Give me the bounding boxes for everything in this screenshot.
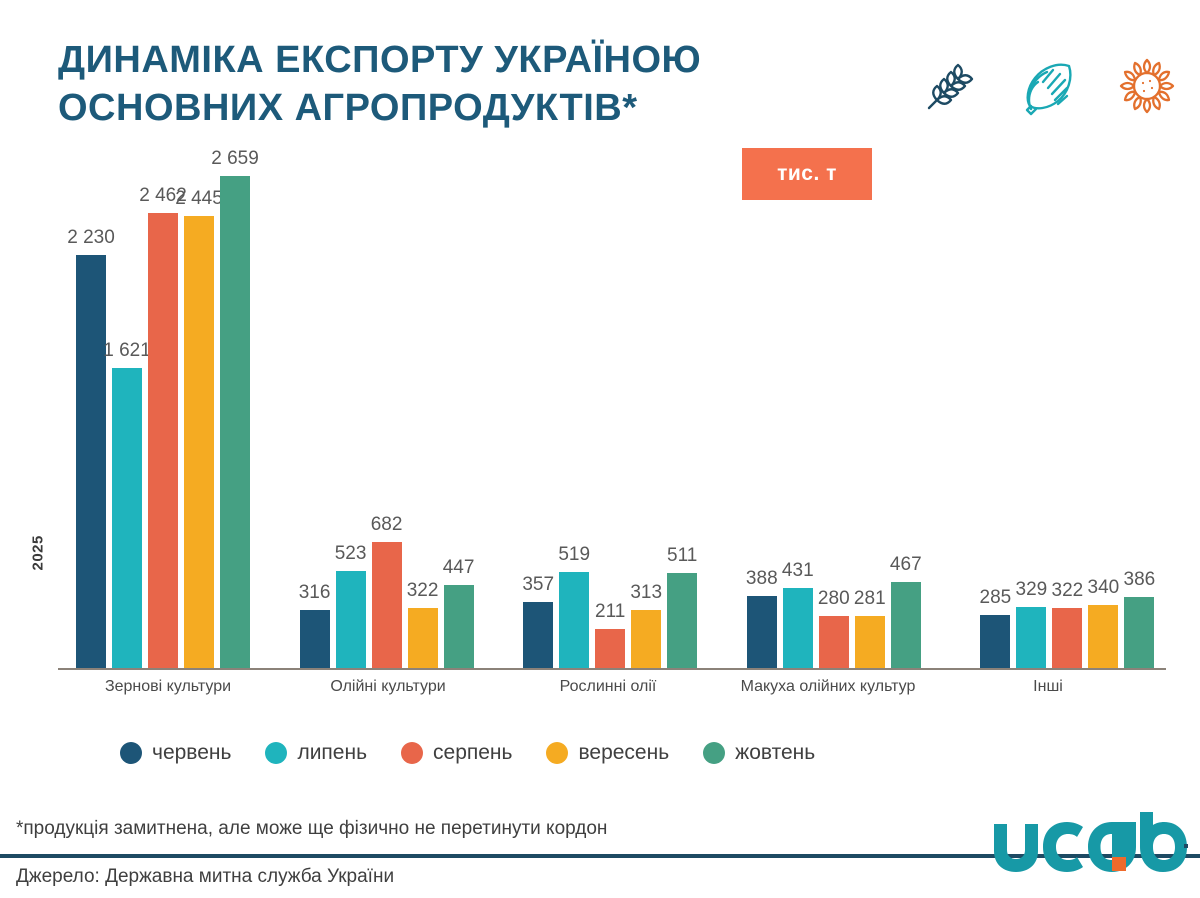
bar-value-label: 523	[335, 543, 367, 565]
legend-item[interactable]: червень	[120, 741, 231, 765]
bar-value-label: 519	[558, 544, 590, 566]
bar-value-label: 316	[299, 582, 331, 604]
bar[interactable]	[220, 176, 250, 668]
y-axis-label: 2025	[30, 543, 47, 571]
bar[interactable]	[523, 602, 553, 668]
bar[interactable]	[184, 216, 214, 668]
legend-label: вересень	[578, 741, 669, 765]
bar-group: 285329322340386	[932, 150, 1166, 668]
footnote: *продукція замитнена, але може ще фізичн…	[16, 818, 607, 840]
bar-column: 211	[595, 150, 625, 668]
x-axis-line	[58, 668, 1166, 670]
bar[interactable]	[300, 610, 330, 668]
bar-value-label: 329	[1016, 579, 1048, 601]
bar-value-label: 211	[595, 601, 625, 623]
bar-column: 280	[819, 150, 849, 668]
bar-column: 2 230	[76, 150, 106, 668]
bar-column: 316	[300, 150, 330, 668]
x-axis-label-item: Зернові культури	[58, 678, 278, 710]
legend-label: червень	[152, 741, 231, 765]
bar-group: 316523682322447	[262, 150, 486, 668]
bar-value-label: 357	[522, 574, 554, 596]
bar-column: 357	[523, 150, 553, 668]
bar-column: 2 445	[184, 150, 214, 668]
legend-label: жовтень	[735, 741, 815, 765]
chart-legend: червеньлипеньсерпеньвересеньжовтень	[0, 730, 1200, 776]
bar[interactable]	[783, 588, 813, 668]
bar-column: 519	[559, 150, 589, 668]
bar[interactable]	[372, 542, 402, 668]
bar[interactable]	[408, 608, 438, 668]
bar[interactable]	[980, 615, 1010, 668]
ucab-logo	[988, 812, 1188, 888]
bar-column: 447	[444, 150, 474, 668]
bar[interactable]	[1052, 608, 1082, 668]
bar-value-label: 1 621	[103, 340, 151, 362]
header-icon-group	[915, 40, 1175, 132]
bar-value-label: 281	[854, 588, 886, 610]
corn-icon	[1013, 50, 1085, 122]
legend-item[interactable]: жовтень	[703, 741, 815, 765]
bar-column: 313	[631, 150, 661, 668]
legend-color-swatch	[120, 742, 142, 764]
bar-value-label: 467	[890, 554, 922, 576]
bar[interactable]	[819, 616, 849, 668]
bar[interactable]	[336, 571, 366, 668]
bar-value-label: 2 659	[211, 148, 259, 170]
legend-color-swatch	[703, 742, 725, 764]
bar-group: 2 2301 6212 4622 4452 659	[58, 150, 262, 668]
legend-color-swatch	[265, 742, 287, 764]
bar-column: 1 621	[112, 150, 142, 668]
bar-group: 388431280281467	[709, 150, 933, 668]
chart-plot-area: 2 2301 6212 4622 4452 659316523682322447…	[58, 150, 1166, 668]
bar-value-label: 682	[371, 514, 403, 536]
bar-chart: 2025 2 2301 6212 4622 4452 6593165236823…	[0, 150, 1200, 720]
legend-item[interactable]: вересень	[546, 741, 669, 765]
bar-column: 523	[336, 150, 366, 668]
bar-column: 340	[1088, 150, 1118, 668]
bar-value-label: 511	[667, 545, 697, 567]
legend-label: липень	[297, 741, 367, 765]
bar[interactable]	[1124, 597, 1154, 668]
sunflower-icon	[1111, 50, 1183, 122]
bar-column: 2 462	[148, 150, 178, 668]
bar-value-label: 322	[1052, 580, 1084, 602]
x-axis-label-item: Олійні культури	[278, 678, 498, 710]
x-axis-labels: Зернові культуриОлійні культуриРослинні …	[58, 678, 1166, 710]
bar[interactable]	[112, 368, 142, 668]
bar-group: 357519211313511	[485, 150, 709, 668]
bar[interactable]	[631, 610, 661, 668]
bar-column: 322	[408, 150, 438, 668]
page-title: ДИНАМІКА ЕКСПОРТУ УКРАЇНОЮ ОСНОВНИХ АГРО…	[58, 36, 898, 132]
bar-column: 281	[855, 150, 885, 668]
legend-label: серпень	[433, 741, 512, 765]
bar[interactable]	[559, 572, 589, 668]
x-axis-label-item: Рослинні олії	[498, 678, 718, 710]
bar[interactable]	[148, 213, 178, 668]
page-title-line-1: ДИНАМІКА ЕКСПОРТУ УКРАЇНОЮ	[58, 36, 898, 84]
bar-value-label: 280	[818, 588, 850, 610]
bar-column: 2 659	[220, 150, 250, 668]
bar-value-label: 2 445	[175, 188, 223, 210]
legend-item[interactable]: серпень	[401, 741, 512, 765]
bar[interactable]	[1088, 605, 1118, 668]
bar-column: 329	[1016, 150, 1046, 668]
bar-column: 682	[372, 150, 402, 668]
wheat-icon	[915, 50, 987, 122]
bar[interactable]	[76, 255, 106, 668]
bar-value-label: 322	[407, 580, 439, 602]
bar-value-label: 313	[630, 582, 662, 604]
bar[interactable]	[855, 616, 885, 668]
legend-color-swatch	[401, 742, 423, 764]
bar-column: 511	[667, 150, 697, 668]
bar-column: 431	[783, 150, 813, 668]
bar-value-label: 431	[782, 560, 814, 582]
bar-value-label: 2 230	[67, 227, 115, 249]
bar-value-label: 386	[1124, 569, 1156, 591]
bar-value-label: 447	[443, 557, 475, 579]
bar[interactable]	[667, 573, 697, 668]
bar-column: 386	[1124, 150, 1154, 668]
page-title-line-2: ОСНОВНИХ АГРОПРОДУКТІВ*	[58, 84, 898, 132]
bar-value-label: 340	[1088, 577, 1120, 599]
header: ДИНАМІКА ЕКСПОРТУ УКРАЇНОЮ ОСНОВНИХ АГРО…	[0, 0, 1200, 150]
bar-value-label: 388	[746, 568, 778, 590]
bar-column: 388	[747, 150, 777, 668]
bar[interactable]	[1016, 607, 1046, 668]
bar[interactable]	[891, 582, 921, 668]
bar-column: 322	[1052, 150, 1082, 668]
bar-value-label: 285	[980, 587, 1012, 609]
bar[interactable]	[595, 629, 625, 668]
bar-column: 467	[891, 150, 921, 668]
bar-column: 285	[980, 150, 1010, 668]
legend-color-swatch	[546, 742, 568, 764]
legend-item[interactable]: липень	[265, 741, 367, 765]
bar[interactable]	[747, 596, 777, 668]
x-axis-label-item: Макуха олійних культур	[718, 678, 938, 710]
x-axis-label-item: Інші	[938, 678, 1158, 710]
source-text: Джерело: Державна митна служба України	[16, 866, 394, 888]
bar[interactable]	[444, 585, 474, 668]
